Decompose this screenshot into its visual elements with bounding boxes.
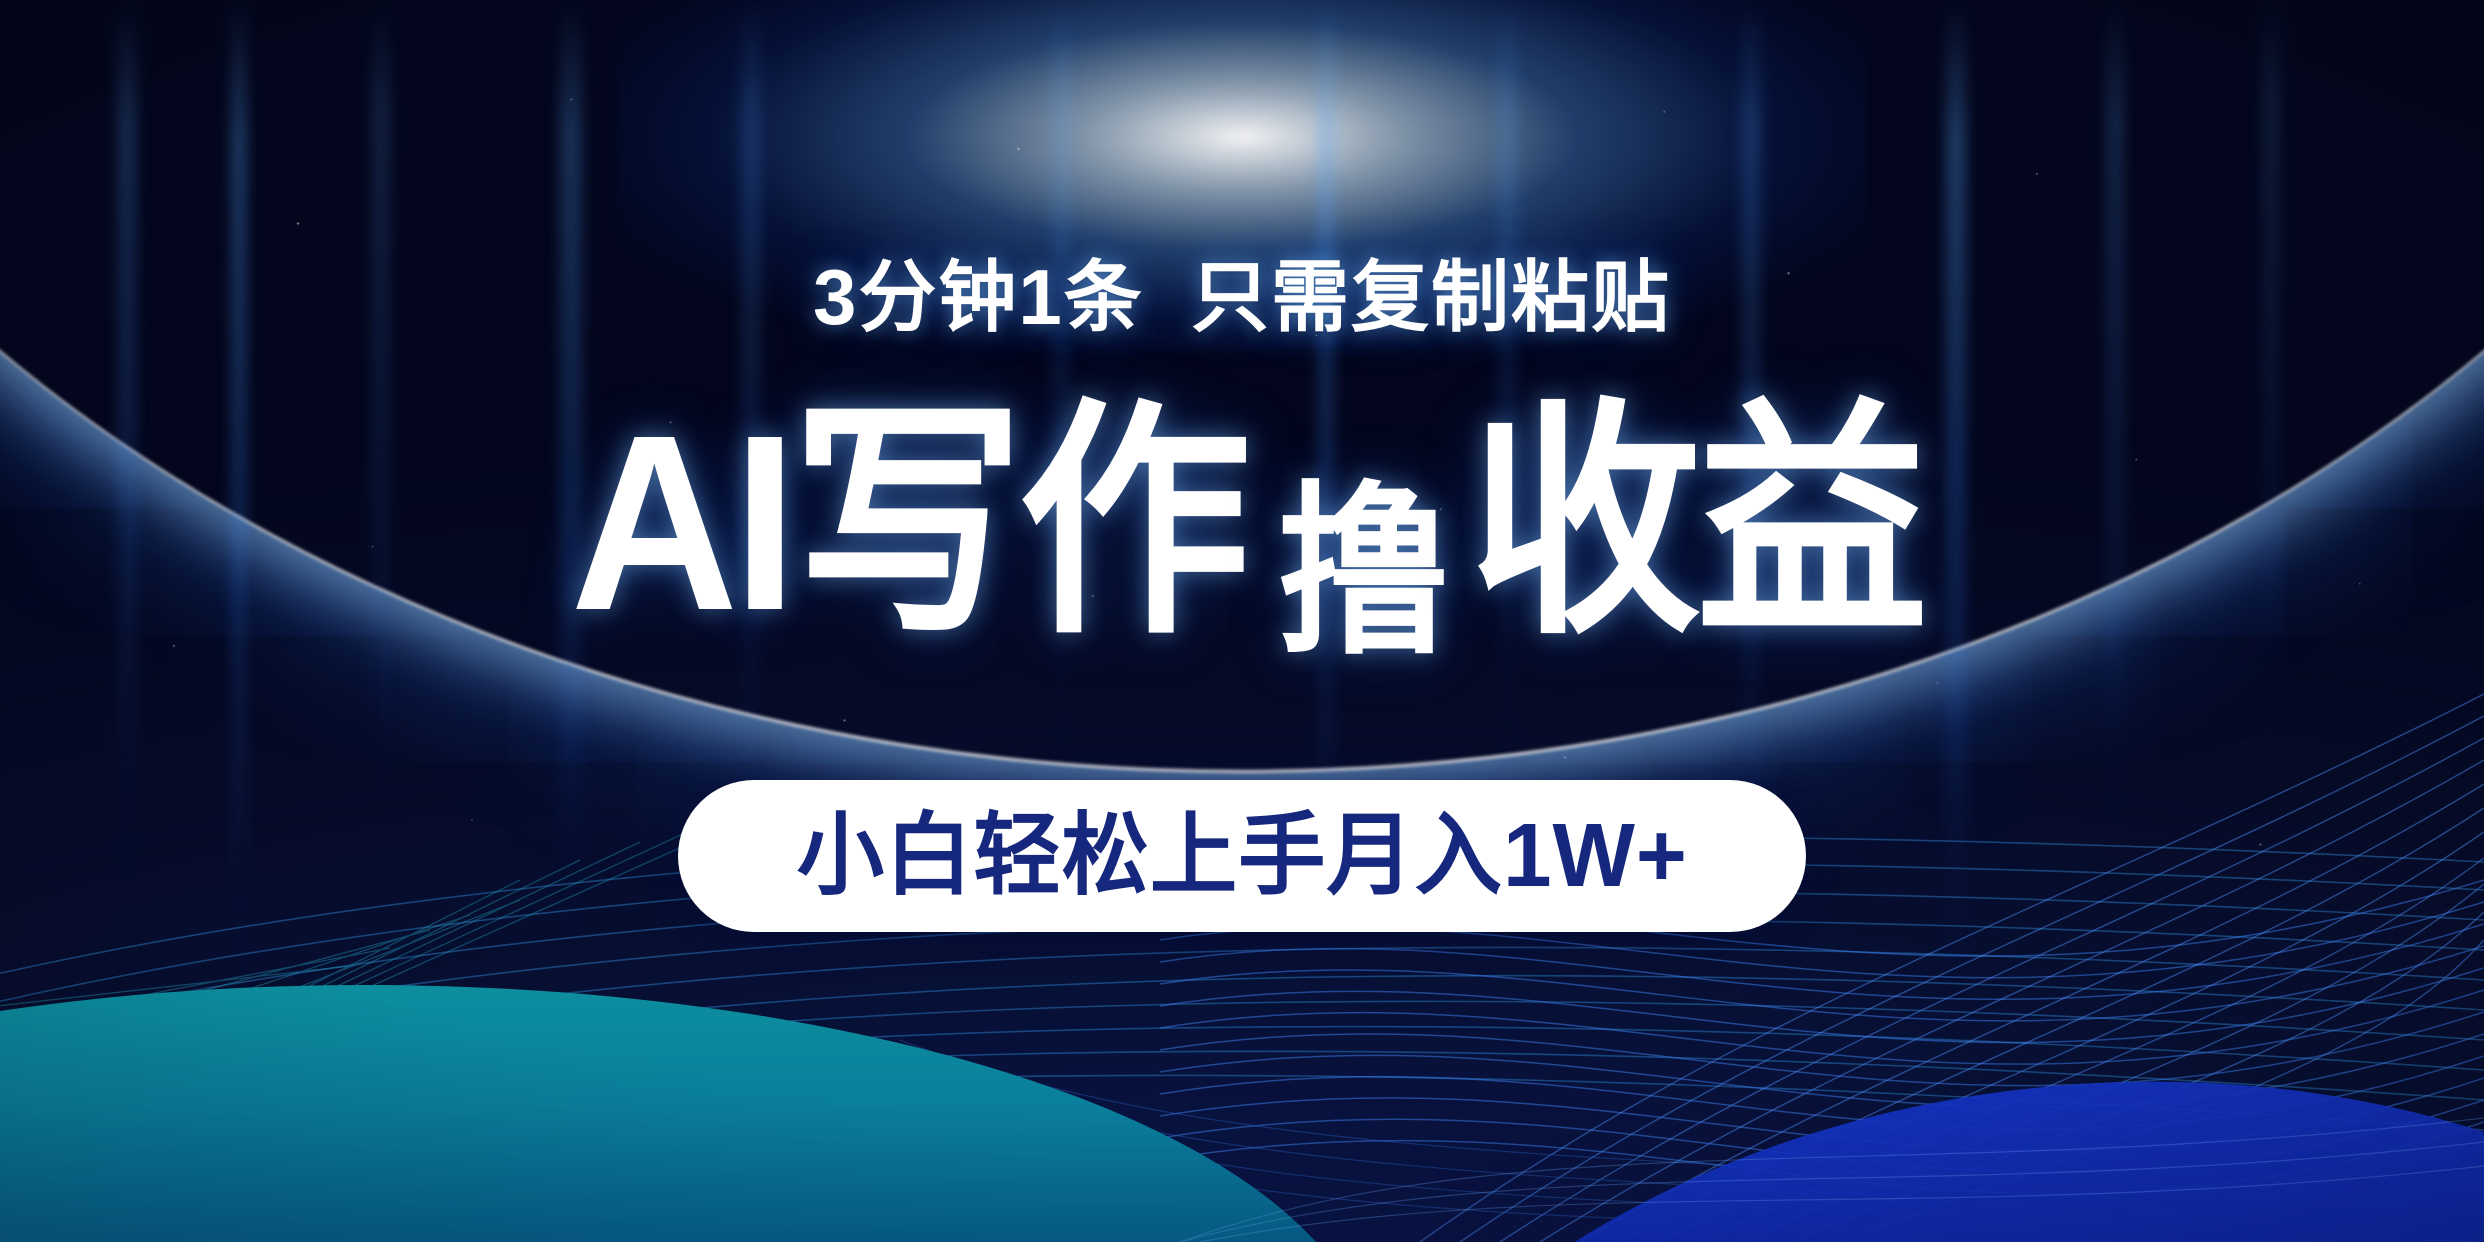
poster-title: AI写作 撸 收益 [0,398,2484,648]
title-accent-character: 撸 [1277,481,1445,666]
benefit-pill-text: 小白轻松上手月入1W+ [796,811,1687,901]
poster-subtitle: 3分钟1条 只需复制粘贴 [0,258,2484,336]
promo-poster: 3分钟1条 只需复制粘贴 AI写作 撸 收益 小白轻松上手月入1W+ [0,0,2484,1242]
poster-content: 3分钟1条 只需复制粘贴 AI写作 撸 收益 小白轻松上手月入1W+ [0,0,2484,1242]
title-part-one: AI写作 [570,398,1245,648]
title-part-two: 收益 [1469,398,1923,648]
benefit-pill-badge: 小白轻松上手月入1W+ [678,780,1806,932]
